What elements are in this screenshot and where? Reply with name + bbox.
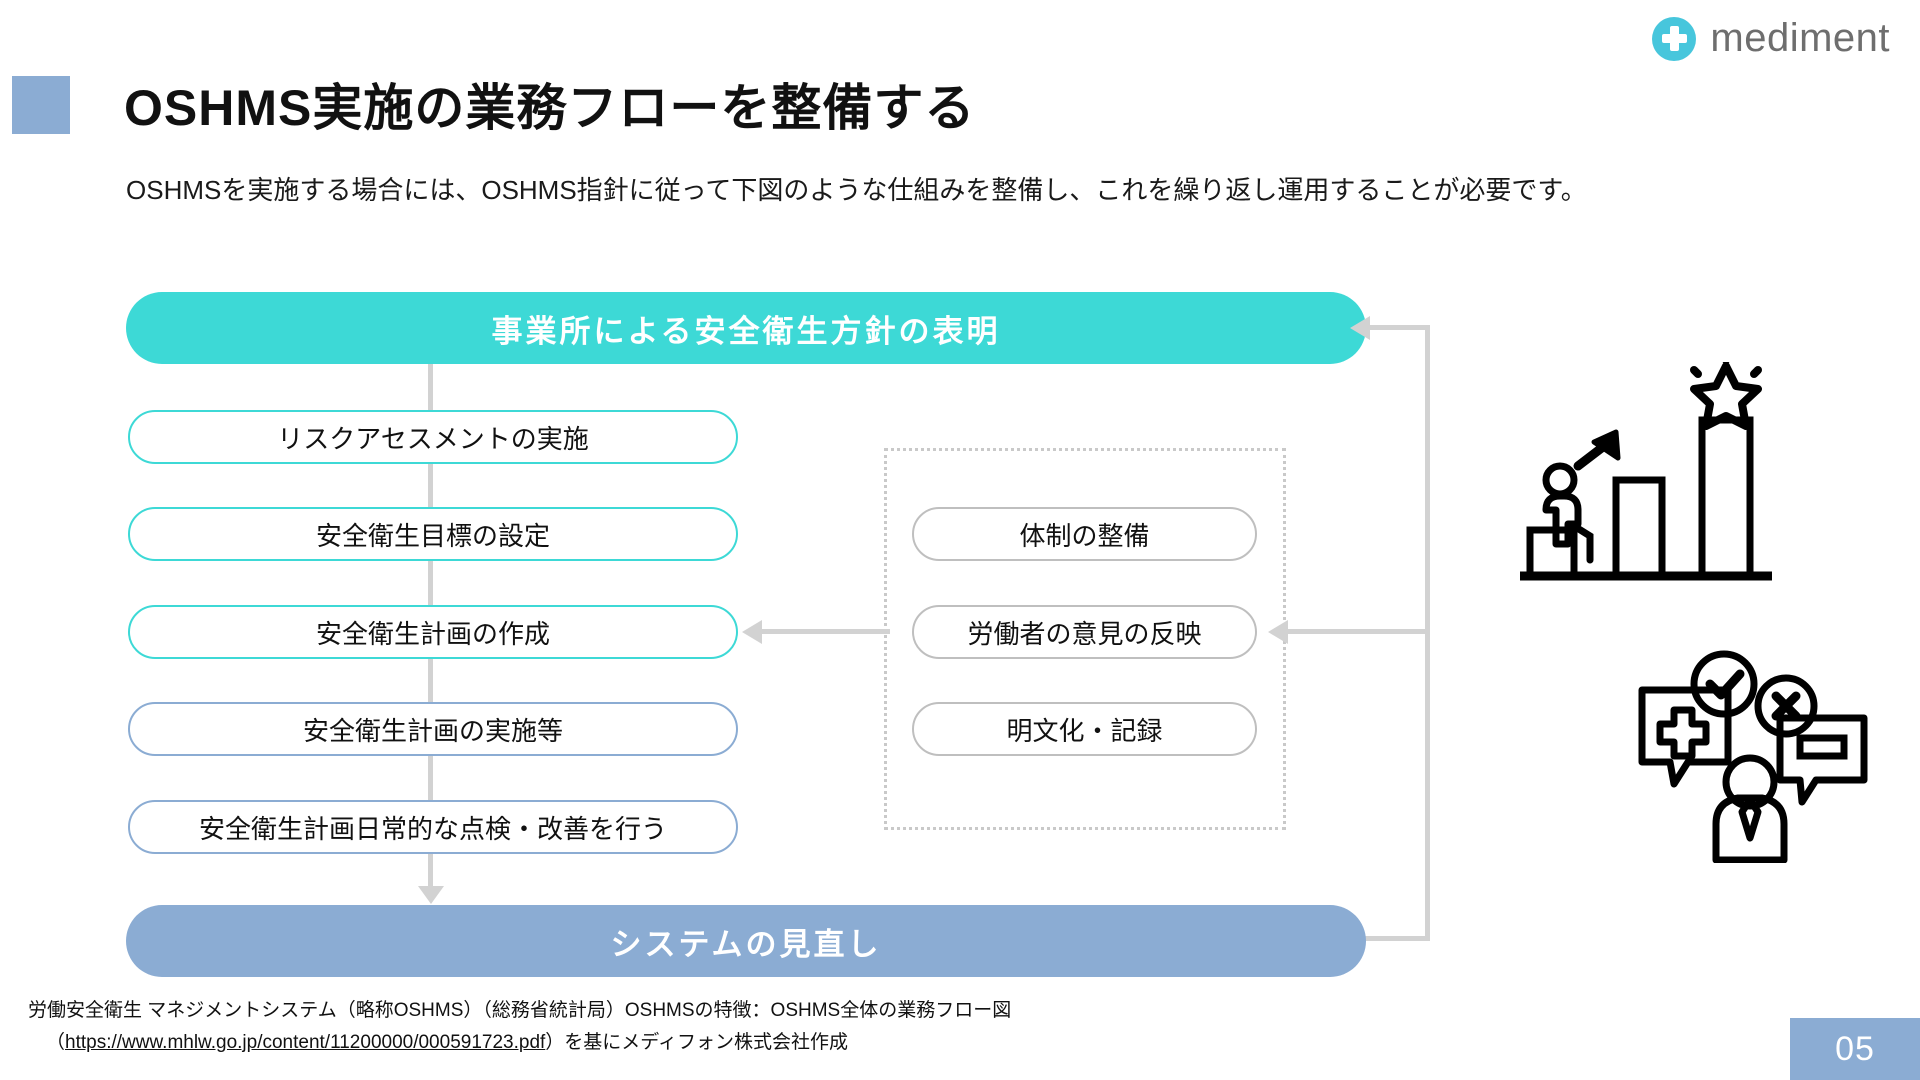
flow-step-3-label: 安全衛生計画の作成 (316, 614, 550, 651)
connector-arrow-down-icon (418, 886, 444, 904)
connector-segment (428, 659, 433, 703)
flow-step-2-label: 安全衛生目標の設定 (316, 516, 550, 553)
slide-root: mediment OSHMS実施の業務フローを整備する OSHMSを実施する場合… (0, 0, 1920, 1080)
flow-top-bar[interactable]: 事業所による安全衛生方針の表明 (126, 292, 1366, 364)
support-item-3-label: 明文化・記録 (1006, 711, 1162, 748)
flow-top-bar-label: 事業所による安全衛生方針の表明 (491, 306, 1000, 351)
flow-step-1[interactable]: リスクアセスメントの実施 (128, 410, 738, 464)
support-item-1-label: 体制の整備 (1019, 516, 1149, 553)
footer-line-1: 労働安全衛生 マネジメントシステム（略称OSHMS）（総務省統計局）OSHMSの… (28, 995, 1011, 1026)
feedback-loop-top (1368, 325, 1430, 330)
footer-suffix: ）を基にメディフォン株式会社作成 (545, 1032, 848, 1053)
page-number-badge: 05 (1790, 1018, 1920, 1080)
support-item-1[interactable]: 体制の整備 (912, 507, 1257, 561)
flow-bottom-bar[interactable]: システムの見直し (126, 905, 1366, 977)
flow-step-3[interactable]: 安全衛生計画の作成 (128, 605, 738, 659)
footer-paren-open: （ (46, 1032, 65, 1053)
footer-citation: 労働安全衛生 マネジメントシステム（略称OSHMS）（総務省統計局）OSHMSの… (28, 995, 1011, 1058)
flow-bottom-bar-label: システムの見直し (610, 919, 881, 964)
footer-line-2: （https://www.mhlw.go.jp/content/11200000… (28, 1027, 1011, 1058)
arrow-left-icon (1268, 620, 1288, 644)
arrow-left-icon (742, 620, 762, 644)
connector-segment (428, 464, 433, 508)
support-connector-line (760, 629, 890, 634)
flow-step-1-label: リスクアセスメントの実施 (277, 419, 588, 456)
connector-segment (428, 561, 433, 606)
support-item-2[interactable]: 労働者の意見の反映 (912, 605, 1257, 659)
flow-step-4-label: 安全衛生計画の実施等 (303, 711, 563, 748)
support-item-2-label: 労働者の意見の反映 (967, 614, 1201, 651)
source-url-link[interactable]: https://www.mhlw.go.jp/content/11200000/… (65, 1032, 545, 1053)
support-item-3[interactable]: 明文化・記録 (912, 702, 1257, 756)
flow-step-2[interactable]: 安全衛生目標の設定 (128, 507, 738, 561)
connector-segment (428, 364, 433, 412)
flow-step-5[interactable]: 安全衛生計画日常的な点検・改善を行う (128, 800, 738, 854)
flow-step-5-label: 安全衛生計画日常的な点検・改善を行う (199, 809, 667, 846)
feedback-loop-mid (1286, 629, 1430, 634)
person-with-feedback-bubbles-icon (1628, 648, 1878, 863)
flow-step-4[interactable]: 安全衛生計画の実施等 (128, 702, 738, 756)
growth-chart-with-star-icon (1516, 362, 1776, 582)
arrow-left-icon (1350, 316, 1370, 340)
connector-segment (428, 756, 433, 801)
